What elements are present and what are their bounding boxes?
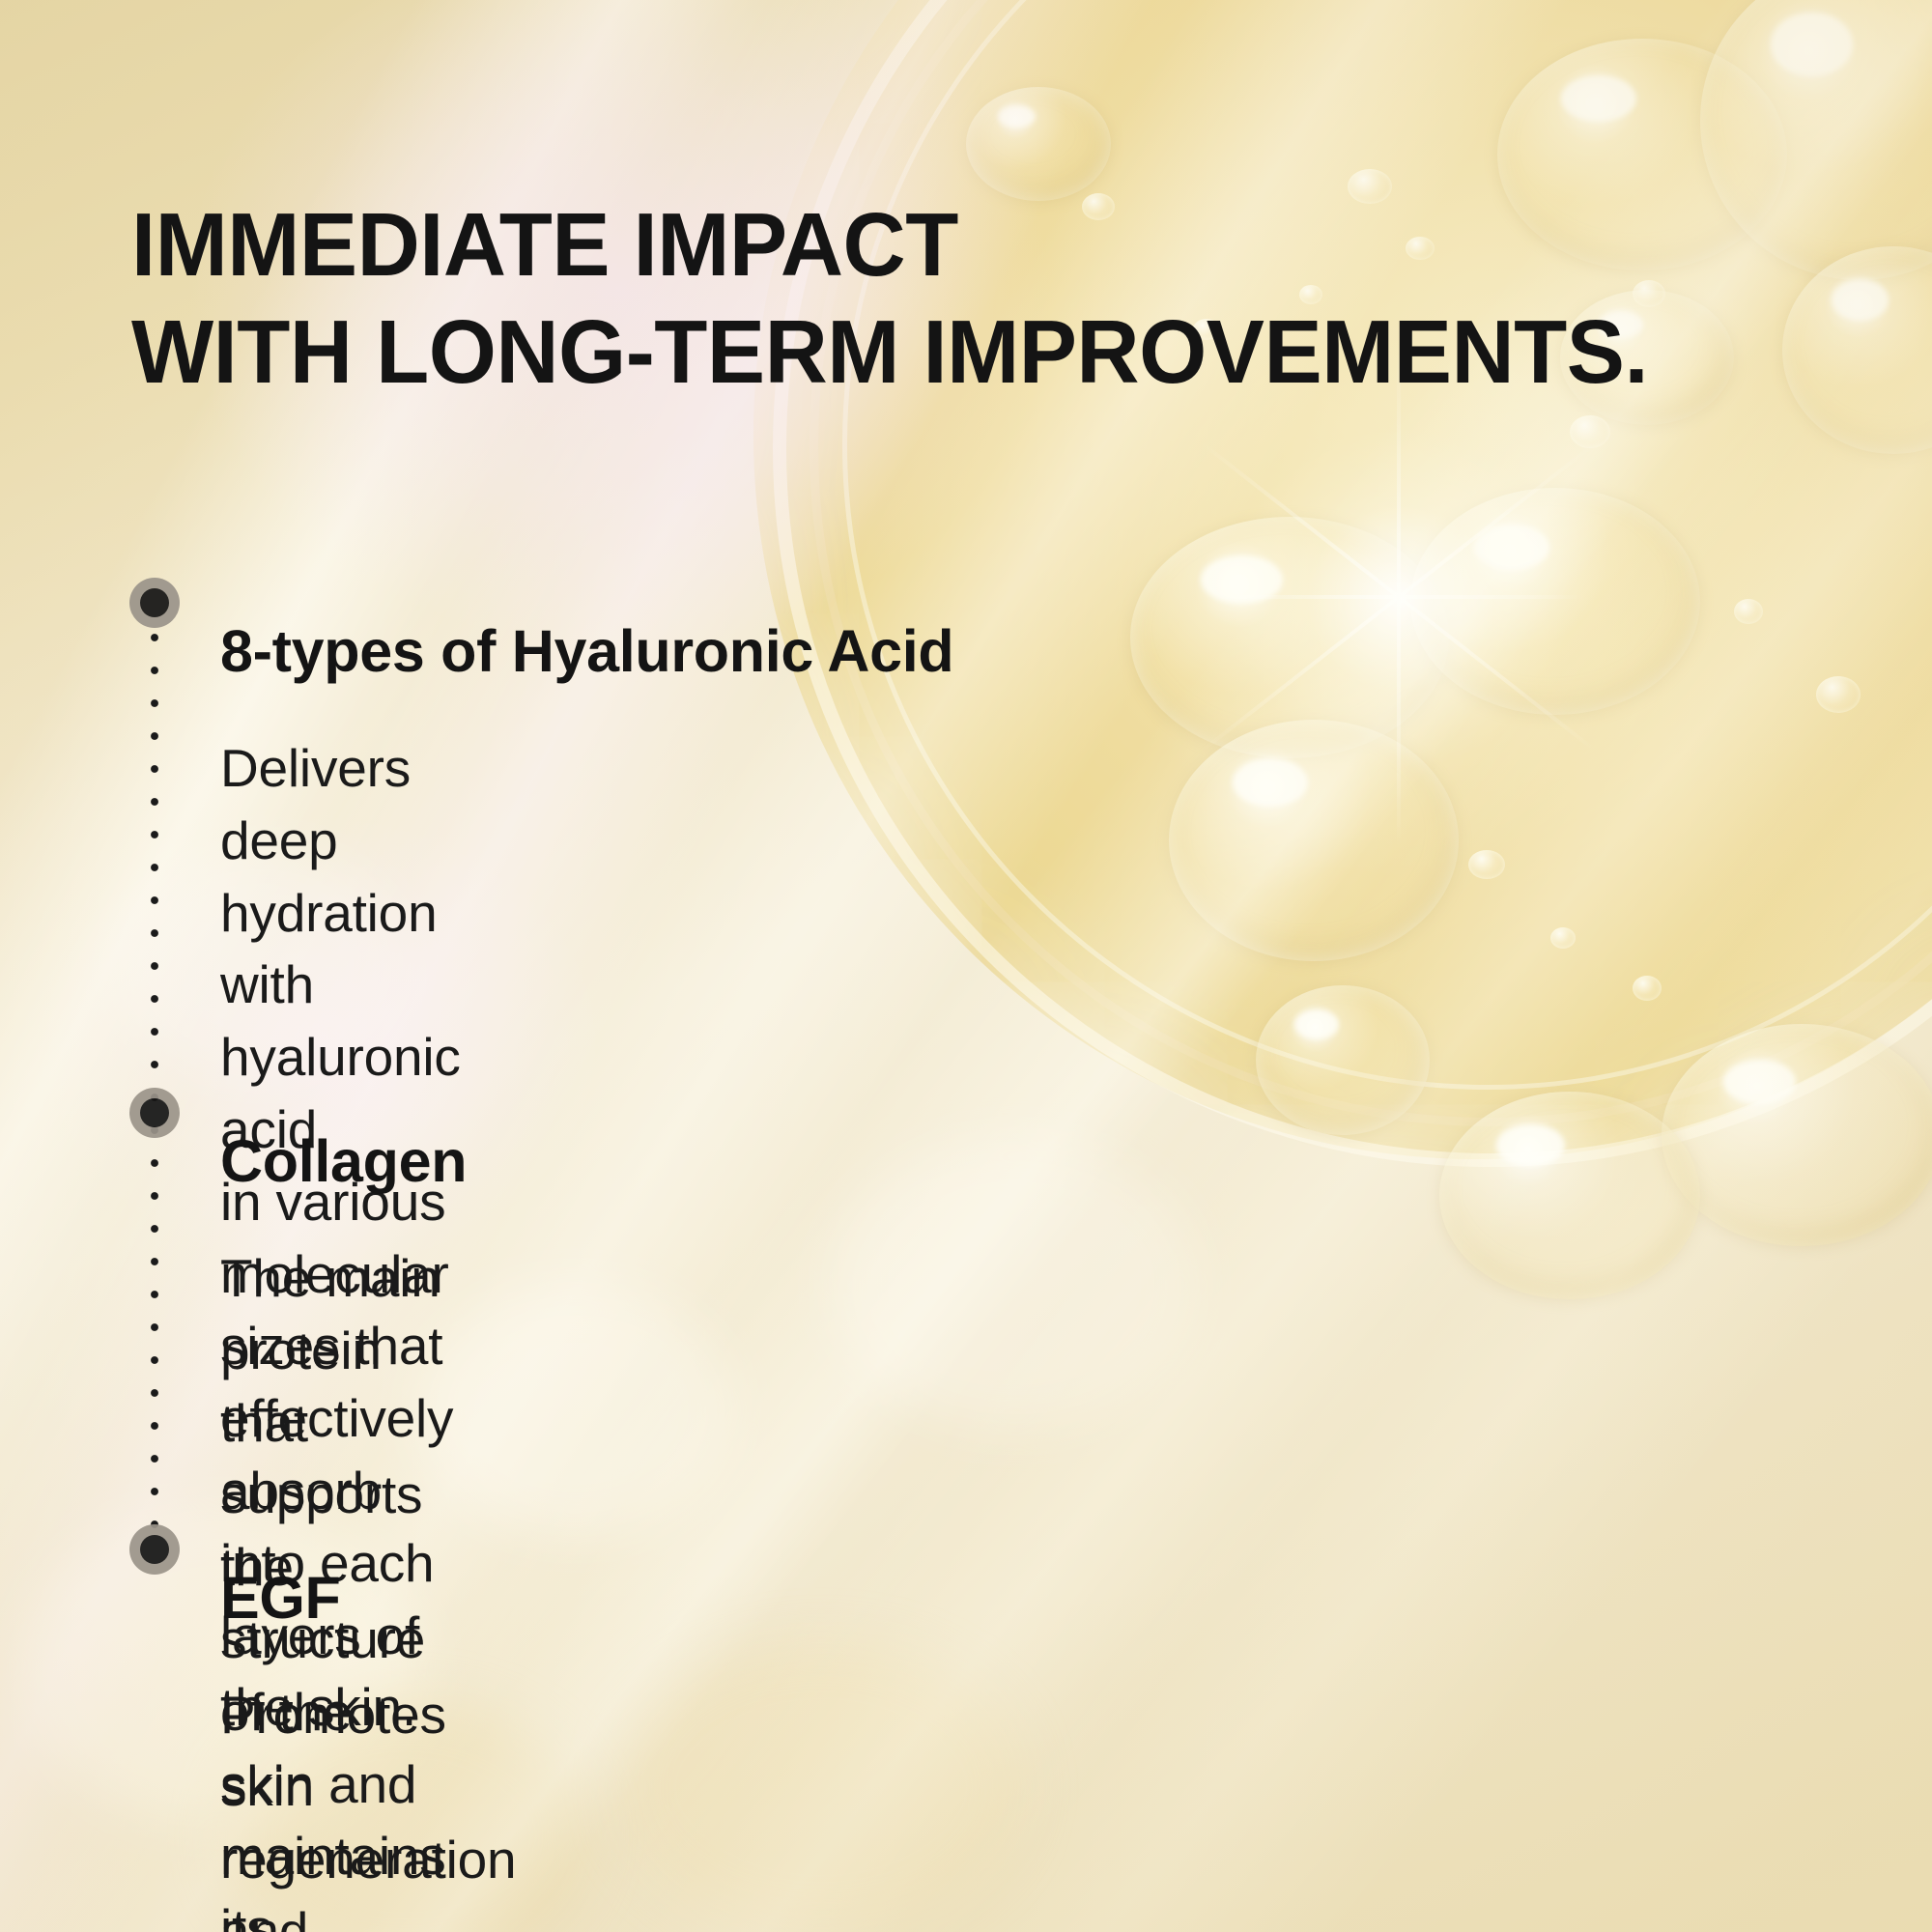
ingredient-title: 8-types of Hyaluronic Acid: [220, 622, 953, 681]
ingredient-description: Promotes skin regeneration and enhances …: [220, 1679, 540, 1932]
page-title: IMMEDIATE IMPACT WITH LONG-TERM IMPROVEM…: [131, 191, 1818, 405]
ingredient-title: Collagen: [220, 1132, 467, 1191]
timeline-dot-icon: [129, 1088, 180, 1138]
timeline-dot-icon: [129, 578, 180, 628]
product-benefits-poster: IMMEDIATE IMPACT WITH LONG-TERM IMPROVEM…: [0, 0, 1932, 1932]
content-layer: IMMEDIATE IMPACT WITH LONG-TERM IMPROVEM…: [0, 0, 1932, 1932]
ingredient-title: EGF: [220, 1569, 341, 1628]
timeline-dot-icon: [129, 1524, 180, 1575]
